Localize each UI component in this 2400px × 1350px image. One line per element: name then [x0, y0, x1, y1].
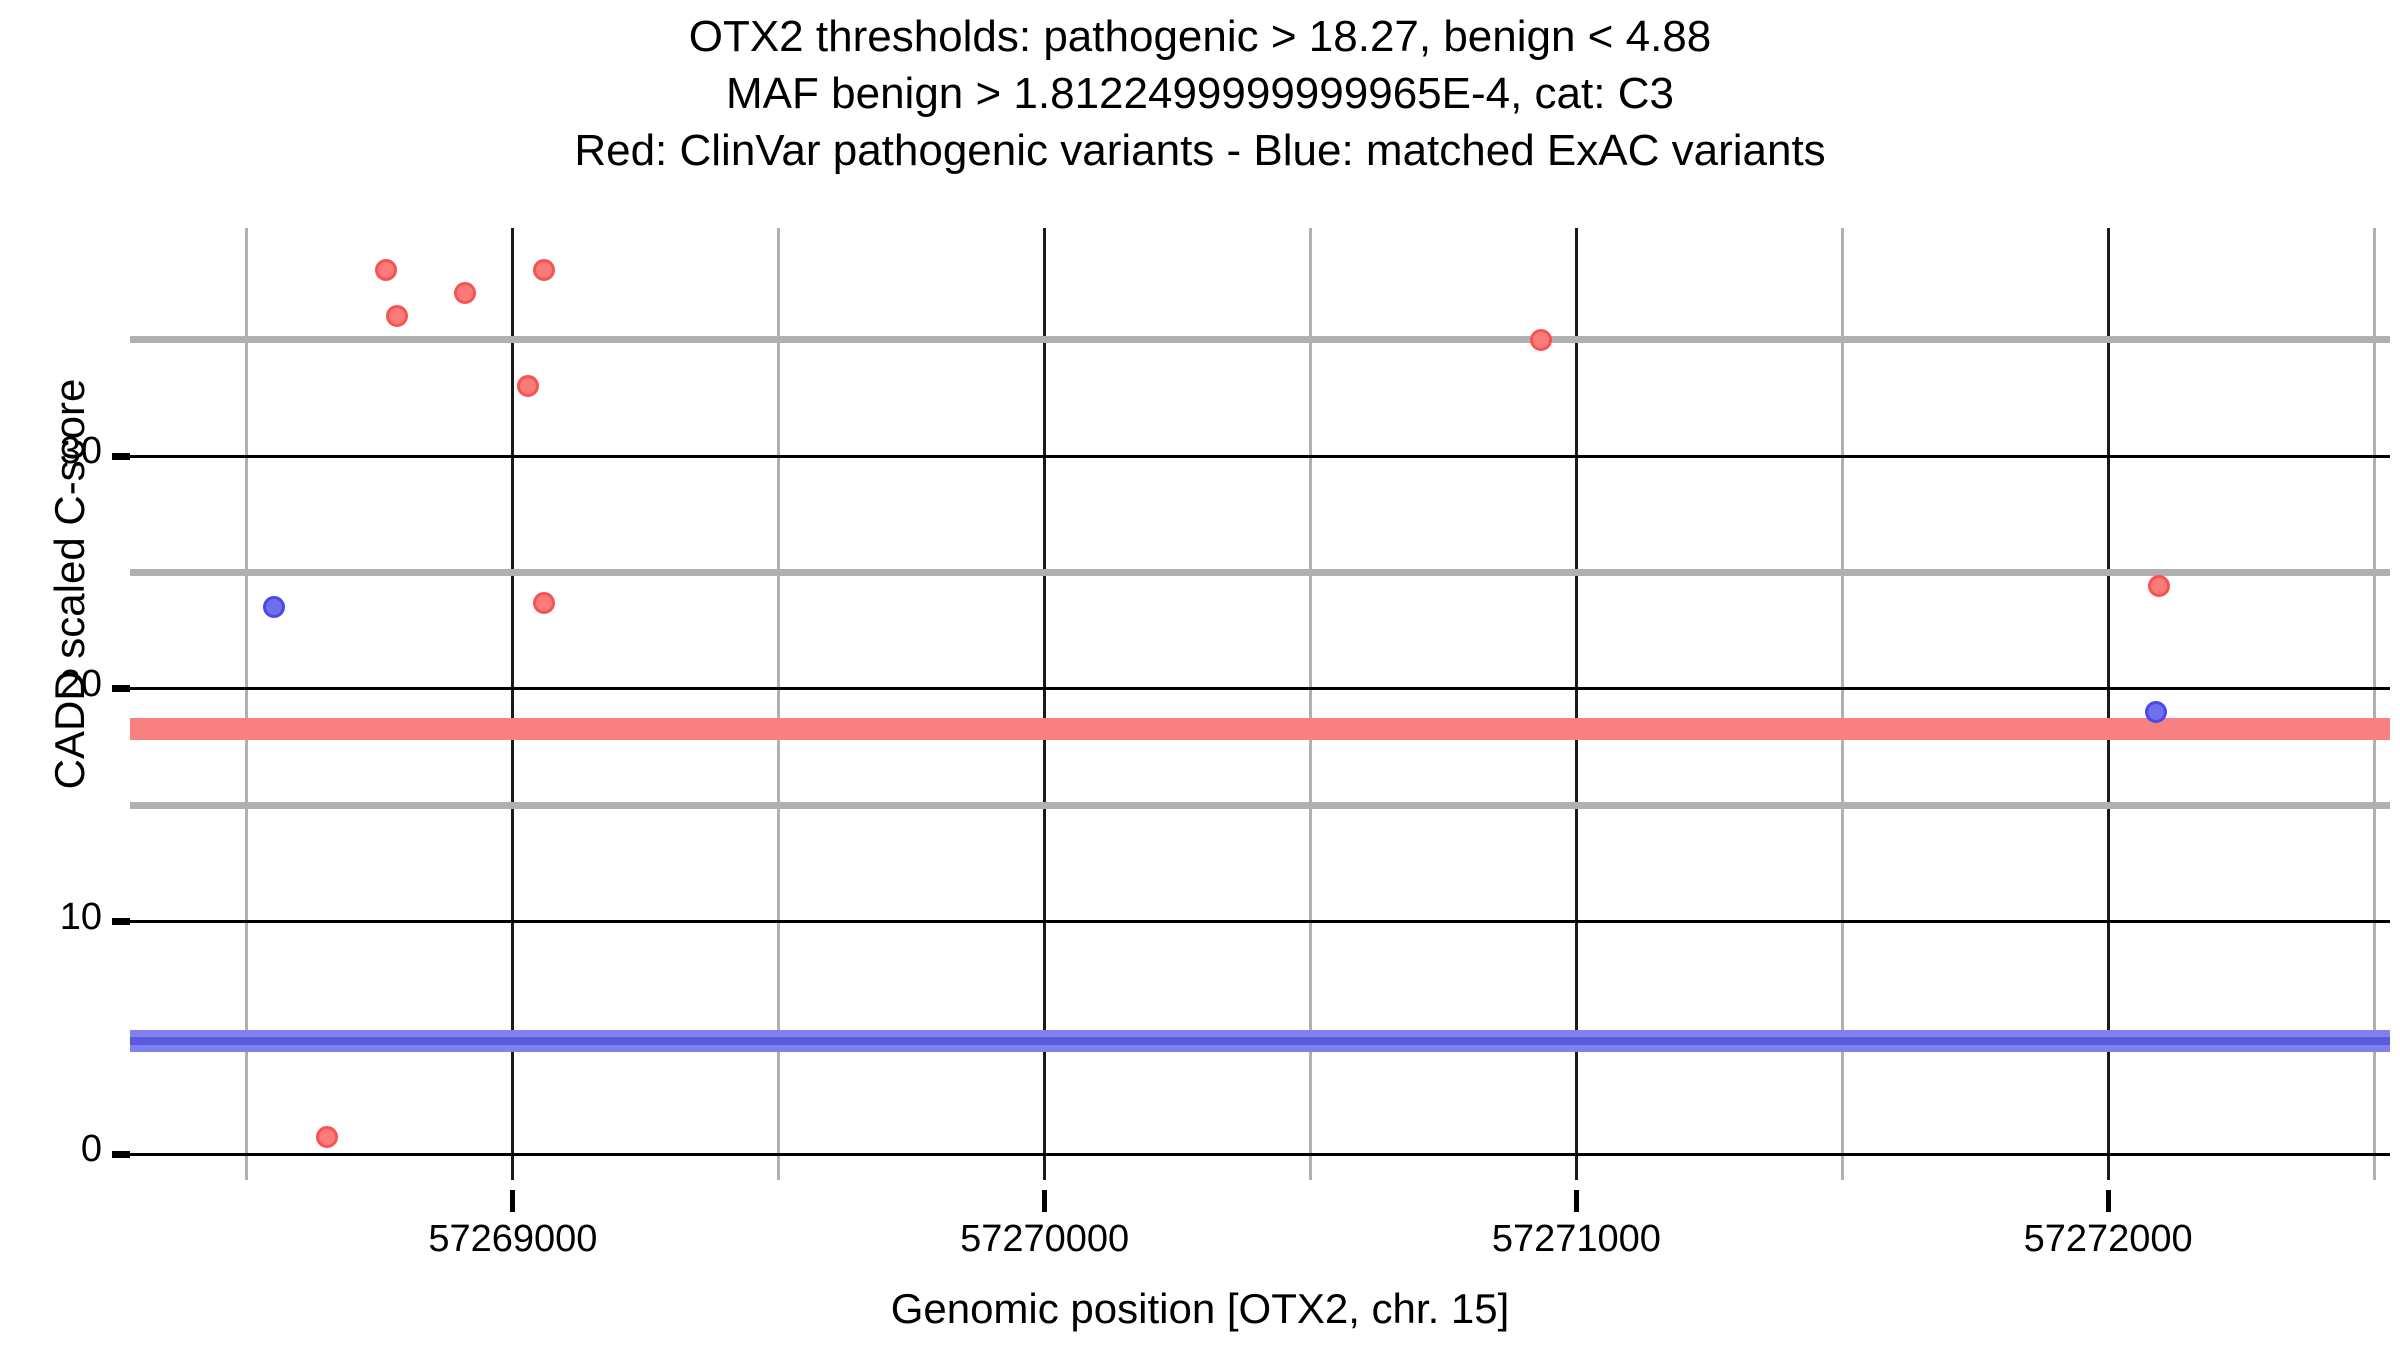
x-axis-label: Genomic position [OTX2, chr. 15]: [0, 1285, 2400, 1333]
scatter-plot-figure: OTX2 thresholds: pathogenic > 18.27, ben…: [0, 0, 2400, 1350]
title-line-3: Red: ClinVar pathogenic variants - Blue:…: [0, 122, 2400, 179]
y-tick-label: 20: [0, 663, 102, 706]
y-tick-mark: [112, 453, 130, 460]
x-tick-mark: [1574, 1190, 1579, 1212]
title-line-2: MAF benign > 1.8122499999999965E-4, cat:…: [0, 65, 2400, 122]
benign-threshold-line: [130, 1030, 2390, 1052]
gridline-horizontal-major: [130, 1153, 2390, 1156]
y-axis-label: CADD scaled C-score: [46, 204, 94, 964]
gridline-horizontal-minor: [130, 802, 2390, 809]
pathogenic-variant-point: [375, 259, 397, 281]
pathogenic-threshold-line: [130, 718, 2390, 740]
x-tick-mark: [510, 1190, 515, 1212]
pathogenic-variant-point: [533, 592, 555, 614]
pathogenic-variant-point: [1530, 329, 1552, 351]
y-tick-mark: [112, 685, 130, 692]
y-tick-mark: [112, 918, 130, 925]
pathogenic-variant-point: [2148, 575, 2170, 597]
x-tick-label: 57271000: [1416, 1218, 1736, 1261]
x-tick-mark: [1042, 1190, 1047, 1212]
pathogenic-variant-point: [454, 282, 476, 304]
x-tick-label: 57270000: [885, 1218, 1205, 1261]
plot-area: [130, 228, 2390, 1180]
gridline-horizontal-minor: [130, 569, 2390, 576]
gridline-horizontal-major: [130, 455, 2390, 458]
gridline-horizontal-minor: [130, 336, 2390, 343]
exac-variant-point: [263, 596, 285, 618]
y-tick-mark: [112, 1151, 130, 1158]
pathogenic-variant-point: [316, 1126, 338, 1148]
x-tick-label: 57272000: [1948, 1218, 2268, 1261]
gridline-horizontal-major: [130, 920, 2390, 923]
pathogenic-variant-point: [517, 375, 539, 397]
y-tick-label: 10: [0, 896, 102, 939]
benign-threshold-core: [130, 1037, 2390, 1045]
pathogenic-variant-point: [533, 259, 555, 281]
y-tick-label: 30: [0, 430, 102, 473]
exac-variant-point: [2145, 701, 2167, 723]
x-tick-label: 57269000: [353, 1218, 673, 1261]
chart-title: OTX2 thresholds: pathogenic > 18.27, ben…: [0, 8, 2400, 180]
y-tick-label: 0: [0, 1128, 102, 1171]
x-tick-mark: [2106, 1190, 2111, 1212]
pathogenic-variant-point: [386, 305, 408, 327]
title-line-1: OTX2 thresholds: pathogenic > 18.27, ben…: [0, 8, 2400, 65]
gridline-horizontal-major: [130, 687, 2390, 690]
